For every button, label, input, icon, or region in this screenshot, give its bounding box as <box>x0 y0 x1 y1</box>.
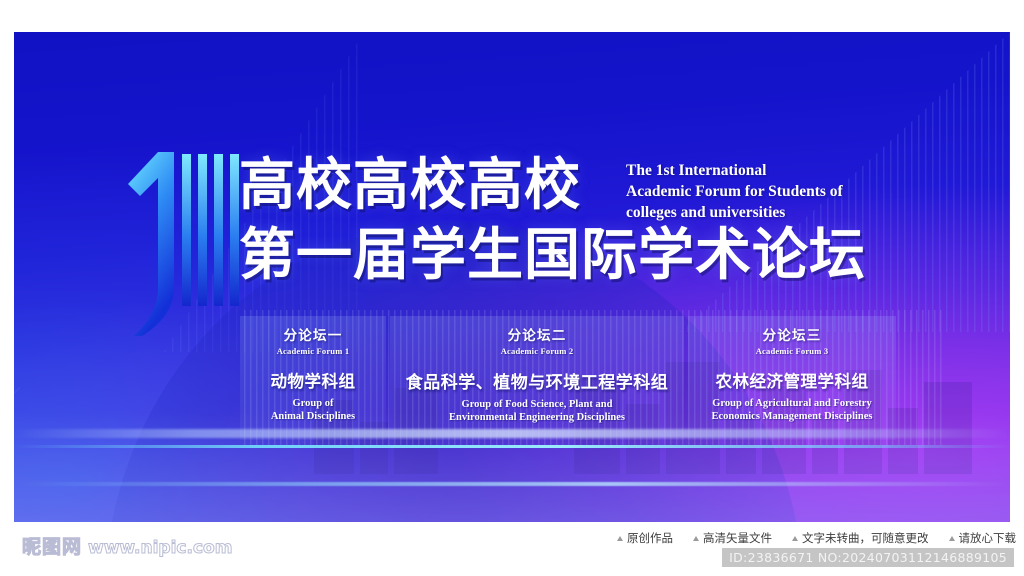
asset-id-badge: ID:23836671 NO:20240703112146889105 <box>722 548 1014 567</box>
forum-2-subtitle-line-1: Group of Food Science, Plant and <box>449 398 625 411</box>
forum-3-subtitle-line-2: Economics Management Disciplines <box>712 410 873 423</box>
forum-1-title-cn: 动物学科组 <box>271 368 356 392</box>
title-english-line-3: colleges and universities <box>626 202 946 223</box>
watermark-logo-text: 昵图网 <box>22 536 82 558</box>
metadata-label-original: 原创作品 <box>627 530 673 546</box>
forum-1-subtitle-en: Group of Animal Disciplines <box>271 397 355 423</box>
forum-panel-1: 分论坛一 Academic Forum 1 动物学科组 Group of Ani… <box>240 316 386 440</box>
forum-2-heading-en: Academic Forum 2 <box>501 346 574 356</box>
metadata-item-original: 原创作品 <box>617 530 673 546</box>
title-english-line-2: Academic Forum for Students of <box>626 181 946 202</box>
forum-3-subtitle-en: Group of Agricultural and Forestry Econo… <box>712 397 873 423</box>
title-english-block: The 1st International Academic Forum for… <box>626 160 946 223</box>
forum-1-heading-en: Academic Forum 1 <box>277 346 350 356</box>
forum-3-heading-cn: 分论坛三 <box>763 324 822 344</box>
metadata-item-download: 请放心下载 <box>949 530 1017 546</box>
light-band <box>14 482 1010 486</box>
forum-panels: 分论坛一 Academic Forum 1 动物学科组 Group of Ani… <box>240 316 896 440</box>
triangle-bullet-icon <box>693 536 699 541</box>
triangle-bullet-icon <box>617 536 623 541</box>
forum-3-heading-en: Academic Forum 3 <box>756 346 829 356</box>
forum-3-title-cn: 农林经济管理学科组 <box>716 368 869 392</box>
metadata-label-editable: 文字未转曲，可随意更改 <box>802 530 929 546</box>
watermark-url: www.nipic.com <box>88 538 232 558</box>
metadata-item-editable: 文字未转曲，可随意更改 <box>792 530 929 546</box>
poster-page: 高校高校高校 第一届学生国际学术论坛 The 1st International… <box>0 0 1024 576</box>
title-english-line-1: The 1st International <box>626 160 946 181</box>
numeral-one-graphic <box>114 138 244 338</box>
triangle-bullet-icon <box>949 536 955 541</box>
forum-2-title-cn: 食品科学、植物与环境工程学科组 <box>406 368 669 393</box>
forum-1-subtitle-line-1: Group of <box>271 397 355 410</box>
footer-bar: 昵图网www.nipic.com 原创作品 高清矢量文件 文字未转曲，可随意更改… <box>0 522 1024 576</box>
metadata-list: 原创作品 高清矢量文件 文字未转曲，可随意更改 请放心下载 <box>617 530 1016 546</box>
forum-panel-2: 分论坛二 Academic Forum 2 食品科学、植物与环境工程学科组 Gr… <box>390 316 684 440</box>
forum-2-heading-cn: 分论坛二 <box>508 324 567 344</box>
forum-2-subtitle-line-2: Environmental Engineering Disciplines <box>449 411 625 424</box>
forum-1-subtitle-line-2: Animal Disciplines <box>271 410 355 423</box>
metadata-item-vector: 高清矢量文件 <box>693 530 772 546</box>
metadata-label-vector: 高清矢量文件 <box>703 530 772 546</box>
banner-artwork: 高校高校高校 第一届学生国际学术论坛 The 1st International… <box>14 32 1010 522</box>
metadata-label-download: 请放心下载 <box>959 530 1017 546</box>
forum-1-heading-cn: 分论坛一 <box>284 324 343 344</box>
forum-2-subtitle-en: Group of Food Science, Plant and Environ… <box>449 398 625 424</box>
site-watermark: 昵图网www.nipic.com <box>22 532 232 559</box>
title-chinese-line-2: 第一届学生国际学术论坛 <box>239 224 939 288</box>
forum-3-subtitle-line-1: Group of Agricultural and Forestry <box>712 397 873 410</box>
triangle-bullet-icon <box>792 536 798 541</box>
light-band <box>14 445 1010 448</box>
forum-panel-3: 分论坛三 Academic Forum 3 农林经济管理学科组 Group of… <box>688 316 896 440</box>
